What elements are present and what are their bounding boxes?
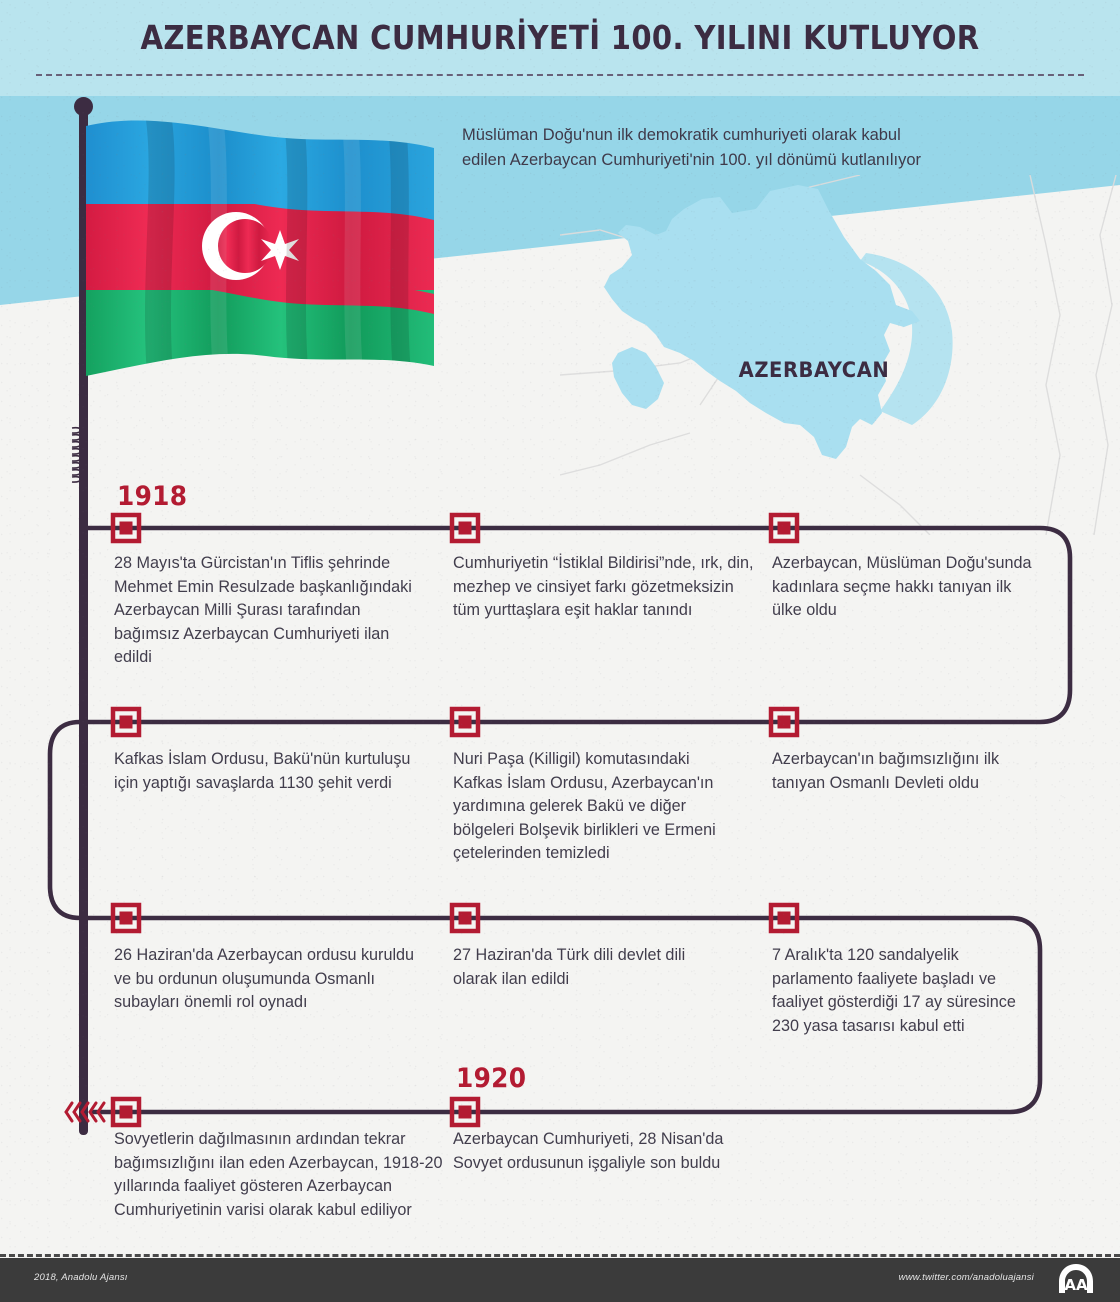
title-divider xyxy=(36,74,1084,76)
timeline-item: Sovyetlerin dağılmasının ardından tekrar… xyxy=(114,1128,459,1222)
anadolu-ajansi-logo-icon: AA xyxy=(1056,1262,1096,1296)
year-label-1918: 1918 xyxy=(117,481,187,512)
timeline-item: 26 Haziran'da Azerbaycan ordusu kuruldu … xyxy=(114,944,424,1015)
timeline-item: 7 Aralık'ta 120 sandalyelik parlamento f… xyxy=(772,944,1034,1038)
timeline-item: 27 Haziran'da Türk dili devlet dili olar… xyxy=(453,944,723,991)
flag-pole-knob xyxy=(74,97,93,116)
timeline-end-chevrons-icon xyxy=(66,1103,104,1121)
footer-twitter-link[interactable]: www.twitter.com/anadoluajansi xyxy=(899,1272,1034,1283)
timeline-item: Azerbaycan'ın bağımsızlığını ilk tanıyan… xyxy=(772,748,1034,795)
timeline-item: Nuri Paşa (Killigil) komutasındaki Kafka… xyxy=(453,748,743,866)
footer-divider xyxy=(0,1254,1120,1257)
year-label-1920: 1920 xyxy=(456,1063,526,1094)
infographic-page: AZERBAYCAN AZERBAYCAN CUMHURİYETİ 100. Y… xyxy=(0,0,1120,1302)
page-title: AZERBAYCAN CUMHURİYETİ 100. YILINI KUTLU… xyxy=(67,18,1053,57)
intro-paragraph: Müslüman Doğu'nun ilk demokratik cumhuri… xyxy=(462,123,932,173)
timeline-item: Kafkas İslam Ordusu, Bakü'nün kurtuluşu … xyxy=(114,748,424,795)
map-country-label: AZERBAYCAN xyxy=(739,358,890,382)
timeline-item: Cumhuriyetin “İstiklal Bildirisi”nde, ır… xyxy=(453,552,758,623)
svg-text:AA: AA xyxy=(1064,1276,1088,1294)
timeline-item: Azerbaycan, Müslüman Doğu'sunda kadınlar… xyxy=(772,552,1034,623)
footer-copyright: 2018, Anadolu Ajansı xyxy=(34,1272,128,1283)
azerbaijan-flag xyxy=(86,118,434,408)
timeline-item: 28 Mayıs'ta Gürcistan'ın Tiflis şehrinde… xyxy=(114,552,414,670)
timeline-item: Azerbaycan Cumhuriyeti, 28 Nisan'da Sovy… xyxy=(453,1128,743,1175)
